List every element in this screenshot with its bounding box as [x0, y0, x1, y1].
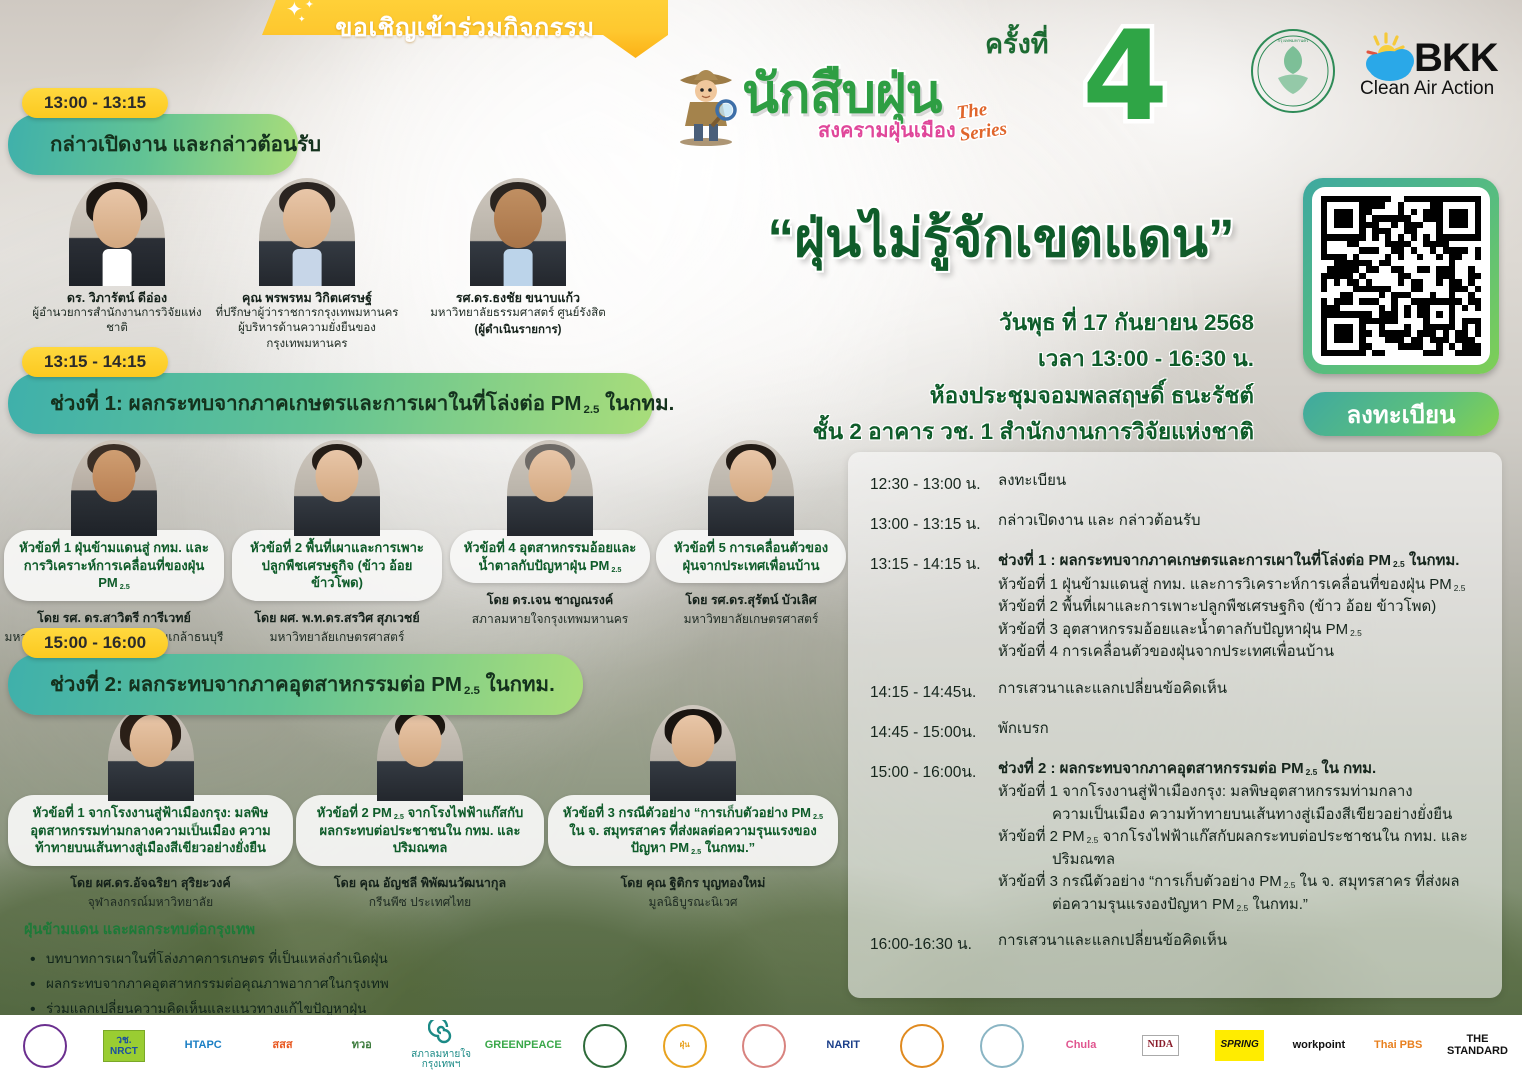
agenda-subitem: หัวข้อที่ 2 พื้นที่เผาและการเพาะปลูกพืชเ…: [998, 596, 1482, 619]
topic-title: หัวข้อที่ 2 พื้นที่เผาและการเพาะปลูกพืชเ…: [232, 530, 442, 601]
agenda-description: ลงทะเบียน: [998, 470, 1482, 496]
avatar: [294, 440, 380, 536]
topic-org: มหาวิทยาลัยเกษตรศาสตร์: [232, 628, 442, 647]
agenda-description: พักเบรก: [998, 718, 1482, 744]
agenda-row: 13:15 - 14:15 น.ช่วงที่ 1 : ผลกระทบจากภา…: [870, 550, 1482, 664]
session-2-bar: ช่วงที่ 2: ผลกระทบจากภาคอุตสาหกรรมต่อ PM…: [8, 654, 583, 715]
agenda-time: 16:00-16:30 น.: [870, 930, 998, 956]
thaihealth-sss-logo: สสส: [244, 1020, 321, 1072]
agenda-body: กล่าวเปิดงาน และ กล่าวต้อนรับ: [998, 512, 1200, 529]
royal-seal-orange: [884, 1020, 961, 1072]
detective-mascot-icon: [668, 50, 744, 146]
register-button[interactable]: ลงทะเบียน: [1303, 392, 1499, 436]
agenda-subitem: หัวข้อที่ 1 ฝุ่นข้ามแดนสู่ กทม. และการวิ…: [998, 574, 1482, 597]
poster-canvas: ✦✦✦ ขอเชิญเข้าร่วมกิจกรรม นักสืบฝุ่น สงค…: [0, 0, 1522, 1076]
topic-card: หัวข้อที่ 2 PM2.5 จากโรงไฟฟ้าแก๊สกับผลกร…: [296, 705, 544, 912]
topic-card: หัวข้อที่ 2 พื้นที่เผาและการเพาะปลูกพืชเ…: [232, 440, 442, 647]
highlights-title: ฝุ่นข้ามแดน และผลกระทบต่อกรุงเทพ: [24, 918, 494, 941]
session-opening-bar: กล่าวเปิดงาน และกล่าวต้อนรับ: [8, 114, 298, 175]
bangkok-breathe-council-logo: สภาลมหายใจกรุงเทพฯ: [402, 1020, 479, 1072]
topic-card: หัวข้อที่ 3 กรณีตัวอย่าง “การเก็บตัวอย่า…: [548, 705, 838, 912]
topic-speaker: โดย คุณ ฐิติกร บุญทองใหม่: [548, 873, 838, 893]
highlight-item: บทบาทการเผาในที่โล่งภาคการเกษตร ที่เป็นแ…: [24, 946, 494, 971]
bkk-tagline: Clean Air Action: [1360, 78, 1494, 100]
fundust-logo: ฝุ่น: [646, 1020, 723, 1072]
topic-card: หัวข้อที่ 5 การเคลื่อนตัวของฝุ่นจากประเท…: [656, 440, 846, 629]
agenda-body: การเสวนาและแลกเปลี่ยนข้อคิดเห็น: [998, 680, 1227, 697]
session-opening-time: 13:00 - 13:15: [22, 88, 168, 118]
brand-logo: นักสืบฝุ่น สงครามฝุ่นเมือง The Series: [668, 36, 1028, 166]
agenda-body: การเสวนาและแลกเปลี่ยนข้อคิดเห็น: [998, 932, 1227, 949]
agenda-subitem: หัวข้อที่ 2 PM2.5 จากโรงไฟฟ้าแก๊สกับผลกร…: [998, 826, 1482, 871]
agenda-body: ลงทะเบียน: [998, 472, 1066, 489]
speaker-org: มหาวิทยาลัยธรรมศาสตร์ ศูนย์รังสิต: [418, 306, 618, 321]
speaker-card: คุณ พรพรหม วิกิตเศรษฐ์ ที่ปรึกษาผู้ว่ารา…: [212, 178, 402, 352]
topic-title: หัวข้อที่ 1 ฝุ่นข้ามแดนสู่ กทม. และการวิ…: [4, 530, 224, 601]
topic-org: มูลนิธิบูรณะนิเวศ: [548, 893, 838, 912]
session-opening-title: กล่าวเปิดงาน และกล่าวต้อนรับ: [8, 114, 351, 175]
qr-code-card[interactable]: [1303, 178, 1499, 374]
agenda-row: 15:00 - 16:00น.ช่วงที่ 2 : ผลกระทบจากภาค…: [870, 758, 1482, 917]
agenda-row: 16:00-16:30 น.การเสวนาและแลกเปลี่ยนข้อคิ…: [870, 930, 1482, 956]
agenda-description: การเสวนาและแลกเปลี่ยนข้อคิดเห็น: [998, 678, 1482, 704]
kmitl-seal: [963, 1020, 1040, 1072]
topic-speaker: โดย คุณ อัญชลี พิพัฒนวัฒนากุล: [296, 873, 544, 893]
spring-news-logo: SPRING: [1201, 1020, 1278, 1072]
avatar: [708, 440, 794, 536]
agenda-subitem: หัวข้อที่ 1 จากโรงงานสู่ฟ้าเมืองกรุง: มล…: [998, 781, 1482, 826]
sponsor-logo-strip: วช.NRCTHTAPCสสสทวอสภาลมหายใจกรุงเทพฯGREE…: [0, 1015, 1522, 1076]
topic-org: สภาลมหายใจกรุงเทพมหานคร: [450, 610, 650, 629]
agenda-subitem: หัวข้อที่ 3 กรณีตัวอย่าง “การเก็บตัวอย่า…: [998, 871, 1482, 916]
agenda-time: 13:00 - 13:15 น.: [870, 510, 998, 536]
agenda-row: 13:00 - 13:15 น.กล่าวเปิดงาน และ กล่าวต้…: [870, 510, 1482, 536]
forest-conservation-logo: ทวอ: [323, 1020, 400, 1072]
highlight-item: ผลกระทบจากภาคอุตสาหกรรมต่อคุณภาพอากาศในก…: [24, 971, 494, 996]
htapc-logo: HTAPC: [165, 1020, 242, 1072]
thaipbs-logo: Thai PBS: [1360, 1020, 1437, 1072]
agenda-row: 14:15 - 14:45น.การเสวนาและแลกเปลี่ยนข้อค…: [870, 678, 1482, 704]
topic-org: จุฬาลงกรณ์มหาวิทยาลัย: [8, 893, 293, 912]
session-1-title: ช่วงที่ 1: ผลกระทบจากภาคเกษตรและการเผาใน…: [8, 373, 704, 434]
topic-title: หัวข้อที่ 5 การเคลื่อนตัวของฝุ่นจากประเท…: [656, 530, 846, 583]
topic-title: หัวข้อที่ 1 จากโรงงานสู่ฟ้าเมืองกรุง: มล…: [8, 795, 293, 866]
mahidol-seal: [725, 1020, 802, 1072]
topic-card: หัวข้อที่ 1 จากโรงงานสู่ฟ้าเมืองกรุง: มล…: [8, 705, 293, 912]
nrct-logo: วช.NRCT: [85, 1020, 162, 1072]
brand-series-label: The Series: [955, 93, 1030, 146]
event-venue: ห้องประชุมจอมพลสฤษดิ์ ธนะรัชต์: [694, 378, 1254, 414]
topic-title: หัวข้อที่ 2 PM2.5 จากโรงไฟฟ้าแก๊สกับผลกร…: [296, 795, 544, 866]
topic-speaker: โดย ผศ. พ.ท.ดร.สรวิศ สุภเวชย์: [232, 608, 442, 628]
event-time: เวลา 13:00 - 16:30 น.: [694, 341, 1254, 377]
event-info: วันพุธ ที่ 17 กันยายน 2568 เวลา 13:00 - …: [694, 305, 1254, 451]
agenda-time: 14:15 - 14:45น.: [870, 678, 998, 704]
agenda-session-head: ช่วงที่ 1 : ผลกระทบจากภาคเกษตรและการเผาใ…: [998, 550, 1482, 573]
bkk-clean-air-logo: BKK Clean Air Action: [1350, 30, 1510, 108]
speaker-name: รศ.ดร.ธงชัย ขนาบแก้ว: [418, 290, 618, 306]
highlights-block: ฝุ่นข้ามแดน และผลกระทบต่อกรุงเทพ บทบาทกา…: [24, 918, 494, 1021]
session-1-time: 13:15 - 14:15: [22, 347, 168, 377]
bkk-wordmark: BKK: [1414, 36, 1498, 81]
speaker-org: ที่ปรึกษาผู้ว่าราชการกรุงเทพมหานคร ผู้บร…: [212, 306, 402, 352]
topic-org: มหาวิทยาลัยเกษตรศาสตร์: [656, 610, 846, 629]
agenda-session-head: ช่วงที่ 2 : ผลกระทบจากภาคอุตสาหกรรมต่อ P…: [998, 758, 1482, 781]
agenda-description: ช่วงที่ 2 : ผลกระทบจากภาคอุตสาหกรรมต่อ P…: [998, 758, 1482, 917]
bangkok-metropolitan-seal-icon: กรุงเทพมหานคร: [1250, 28, 1336, 114]
event-date: วันพุธ ที่ 17 กันยายน 2568: [694, 305, 1254, 341]
avatar: [507, 440, 593, 536]
speaker-card: รศ.ดร.ธงชัย ขนาบแก้ว มหาวิทยาลัยธรรมศาสต…: [418, 178, 618, 339]
agenda-time: 13:15 - 14:15 น.: [870, 550, 998, 664]
agenda-subitem: หัวข้อที่ 4 การเคลื่อนตัวของฝุ่นจากประเท…: [998, 641, 1482, 664]
session-2-time: 15:00 - 16:00: [22, 628, 168, 658]
the-standard-logo: THESTANDARD: [1439, 1020, 1516, 1072]
topic-card: หัวข้อที่ 1 ฝุ่นข้ามแดนสู่ กทม. และการวิ…: [4, 440, 224, 647]
edition-label: ครั้งที่: [985, 22, 1049, 65]
invite-text: ขอเชิญเข้าร่วมกิจกรรม: [262, 8, 668, 48]
highlights-list: บทบาทการเผาในที่โล่งภาคการเกษตร ที่เป็นแ…: [24, 946, 494, 1021]
topic-speaker: โดย รศ. ดร.สาวิตรี การีเวทย์: [4, 608, 224, 628]
speaker-org: ผู้อำนวยการสำนักงานการวิจัยแห่งชาติ: [32, 306, 202, 336]
speaker-name: คุณ พรพรหม วิกิตเศรษฐ์: [212, 290, 402, 306]
speaker-name: ดร. วิภารัตน์ ดีอ่อง: [32, 290, 202, 306]
spiral-icon: [428, 1020, 454, 1046]
workpoint-logo: workpoint: [1280, 1020, 1357, 1072]
qr-code-icon: [1312, 187, 1490, 365]
edition-number: 4: [1082, 20, 1168, 134]
topic-card: หัวข้อที่ 4 อุตสาหกรรมอ้อยและน้ำตาลกับปั…: [450, 440, 650, 629]
agenda-time: 14:45 - 15:00น.: [870, 718, 998, 744]
avatar: [71, 440, 157, 536]
topic-speaker: โดย ดร.เจน ชาญณรงค์: [450, 590, 650, 610]
agenda-row: 12:30 - 13:00 น.ลงทะเบียน: [870, 470, 1482, 496]
svg-text:กรุงเทพมหานคร: กรุงเทพมหานคร: [1277, 38, 1309, 44]
avatar: [377, 705, 463, 801]
topic-speaker: โดย รศ.ดร.สุรัตน์ บัวเลิศ: [656, 590, 846, 610]
hero-quote: “ฝุ่นไม่รู้จักเขตแดน”: [736, 196, 1266, 280]
agenda-description: ช่วงที่ 1 : ผลกระทบจากภาคเกษตรและการเผาใ…: [998, 550, 1482, 664]
agenda-row: 14:45 - 15:00น.พักเบรก: [870, 718, 1482, 744]
chula-logo: Chula: [1042, 1020, 1119, 1072]
speaker-card: ดร. วิภารัตน์ ดีอ่อง ผู้อำนวยการสำนักงาน…: [32, 178, 202, 337]
narit-logo: NARIT: [805, 1020, 882, 1072]
avatar: [259, 178, 355, 286]
topic-speaker: โดย ผศ.ดร.อัจฉริยา สุริยะวงค์: [8, 873, 293, 893]
institute-of-technology-seal: [567, 1020, 644, 1072]
brand-subtitle: สงครามฝุ่นเมือง: [818, 114, 956, 146]
greenpeace-logo: GREENPEACE: [482, 1020, 565, 1072]
agenda-panel: 12:30 - 13:00 น.ลงทะเบียน13:00 - 13:15 น…: [848, 452, 1502, 998]
session-2-title: ช่วงที่ 2: ผลกระทบจากภาคอุตสาหกรรมต่อ PM…: [8, 654, 585, 715]
silpakorn-university-seal: [6, 1020, 83, 1072]
agenda-time: 15:00 - 16:00น.: [870, 758, 998, 917]
topic-org: กรีนพีซ ประเทศไทย: [296, 893, 544, 912]
invite-ribbon: ✦✦✦ ขอเชิญเข้าร่วมกิจกรรม: [262, 0, 668, 58]
nida-logo: NIDA: [1122, 1020, 1199, 1072]
agenda-time: 12:30 - 13:00 น.: [870, 470, 998, 496]
agenda-body: พักเบรก: [998, 720, 1049, 737]
agenda-description: กล่าวเปิดงาน และ กล่าวต้อนรับ: [998, 510, 1482, 536]
avatar: [650, 705, 736, 801]
speaker-role: (ผู้ดำเนินรายการ): [418, 321, 618, 339]
avatar: [108, 705, 194, 801]
topic-title: หัวข้อที่ 4 อุตสาหกรรมอ้อยและน้ำตาลกับปั…: [450, 530, 650, 583]
topic-title: หัวข้อที่ 3 กรณีตัวอย่าง “การเก็บตัวอย่า…: [548, 795, 838, 866]
session-1-bar: ช่วงที่ 1: ผลกระทบจากภาคเกษตรและการเผาใน…: [8, 373, 653, 434]
avatar: [69, 178, 165, 286]
avatar: [470, 178, 566, 286]
agenda-description: การเสวนาและแลกเปลี่ยนข้อคิดเห็น: [998, 930, 1482, 956]
agenda-subitem: หัวข้อที่ 3 อุตสาหกรรมอ้อยและน้ำตาลกับปั…: [998, 619, 1482, 642]
